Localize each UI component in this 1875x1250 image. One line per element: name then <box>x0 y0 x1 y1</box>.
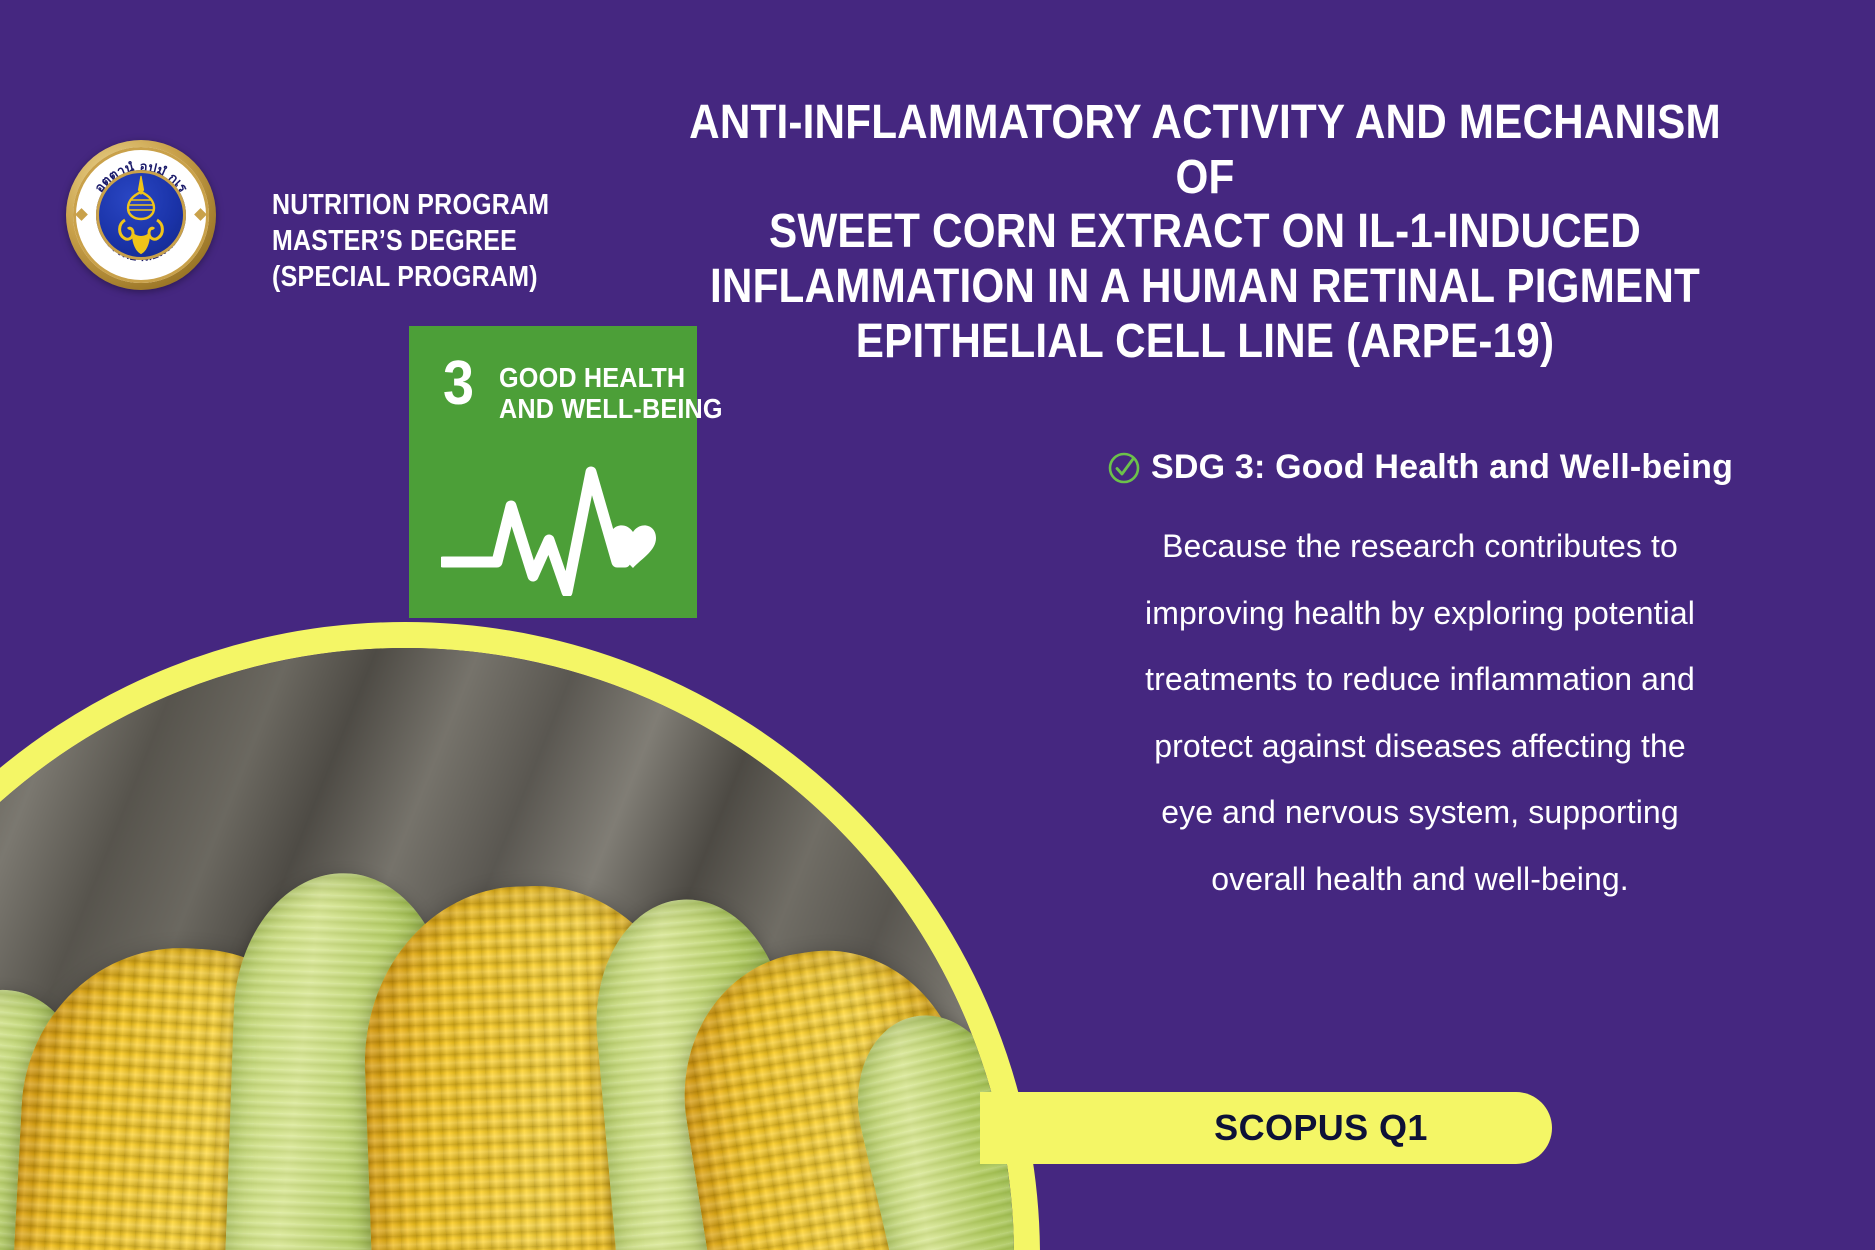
title-line-2: SWEET CORN EXTRACT ON IL-1-INDUCED <box>664 205 1746 260</box>
scopus-q1-badge: SCOPUS Q1 <box>1090 1092 1552 1164</box>
poster-title: ANTI-INFLAMMATORY ACTIVITY AND MECHANISM… <box>590 96 1820 370</box>
title-line-1: ANTI-INFLAMMATORY ACTIVITY AND MECHANISM… <box>664 96 1746 205</box>
heartbeat-pulse-heart-icon <box>441 466 667 596</box>
program-name-block: NUTRITION PROGRAM MASTER’S DEGREE (SPECI… <box>272 188 549 296</box>
sdg-badge-label-line-2: AND WELL-BEING <box>499 393 723 424</box>
program-line-2: MASTER’S DEGREE <box>272 224 549 260</box>
poster-canvas: อตฺตานํ อุปมํ กเร มหาวิทยาลัยมหิดล NUTRI… <box>0 0 1875 1250</box>
program-line-1: NUTRITION PROGRAM <box>272 188 549 224</box>
university-seal-logo: อตฺตานํ อุปมํ กเร มหาวิทยาลัยมหิดล <box>66 140 216 290</box>
sdg-badge-label: GOOD HEALTH AND WELL-BEING <box>499 362 723 425</box>
title-line-3: INFLAMMATION IN A HUMAN RETINAL PIGMENT <box>664 260 1746 315</box>
sdg-body-line-4: protect against diseases affecting the <box>1000 713 1840 780</box>
sdg-body-line-2: improving health by exploring potential <box>1000 580 1840 647</box>
sdg-panel-heading-text: SDG 3: Good Health and Well-being <box>1151 448 1733 487</box>
corn-photo-circle-frame <box>0 622 1040 1250</box>
sdg-number: 3 <box>443 358 474 410</box>
sdg-panel-heading: SDG 3: Good Health and Well-being <box>1000 448 1840 487</box>
sdg-description-panel: SDG 3: Good Health and Well-being Becaus… <box>1000 448 1840 912</box>
sweet-corn-photo <box>0 648 1014 1250</box>
sdg-3-badge: 3 GOOD HEALTH AND WELL-BEING <box>409 326 697 618</box>
program-line-3: (SPECIAL PROGRAM) <box>272 260 549 296</box>
sdg-panel-body: Because the research contributes to impr… <box>1000 513 1840 912</box>
sdg-body-line-1: Because the research contributes to <box>1000 513 1840 580</box>
check-circle-icon <box>1107 451 1141 485</box>
seal-thai-emblem-icon <box>112 174 170 256</box>
title-line-4: EPITHELIAL CELL LINE (ARPE-19) <box>664 315 1746 370</box>
sdg-body-line-5: eye and nervous system, supporting <box>1000 779 1840 846</box>
sdg-body-line-6: overall health and well-being. <box>1000 846 1840 913</box>
sdg-body-line-3: treatments to reduce inflammation and <box>1000 646 1840 713</box>
